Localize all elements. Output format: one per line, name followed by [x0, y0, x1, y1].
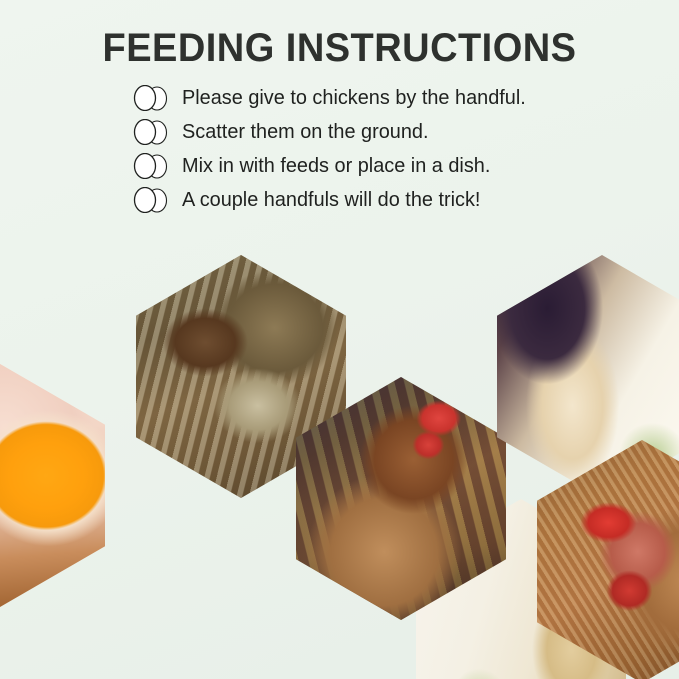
cracked-egg-yolk-image — [0, 364, 105, 607]
instruction-text: Mix in with feeds or place in a dish. — [182, 156, 490, 177]
egg-pair-icon — [130, 85, 174, 111]
instruction-text: Scatter them on the ground. — [182, 122, 429, 143]
instruction-text: A couple handfuls will do the trick! — [182, 190, 480, 211]
list-item: Scatter them on the ground. — [130, 115, 679, 149]
instruction-text: Please give to chickens by the handful. — [182, 88, 526, 109]
feeding-instructions-poster: FEEDING INSTRUCTIONS Please give to chic… — [0, 0, 679, 679]
instructions-text-block: FEEDING INSTRUCTIONS Please give to chic… — [0, 0, 679, 217]
instruction-list: Please give to chickens by the handful. … — [0, 81, 679, 217]
page-title: FEEDING INSTRUCTIONS — [17, 26, 662, 71]
egg-pair-icon — [130, 187, 174, 213]
list-item: A couple handfuls will do the trick! — [130, 183, 679, 217]
egg-pair-icon — [130, 119, 174, 145]
hex-photo-cracked-egg-yolk — [0, 364, 105, 607]
list-item: Mix in with feeds or place in a dish. — [130, 149, 679, 183]
list-item: Please give to chickens by the handful. — [130, 81, 679, 115]
egg-pair-icon — [130, 153, 174, 179]
